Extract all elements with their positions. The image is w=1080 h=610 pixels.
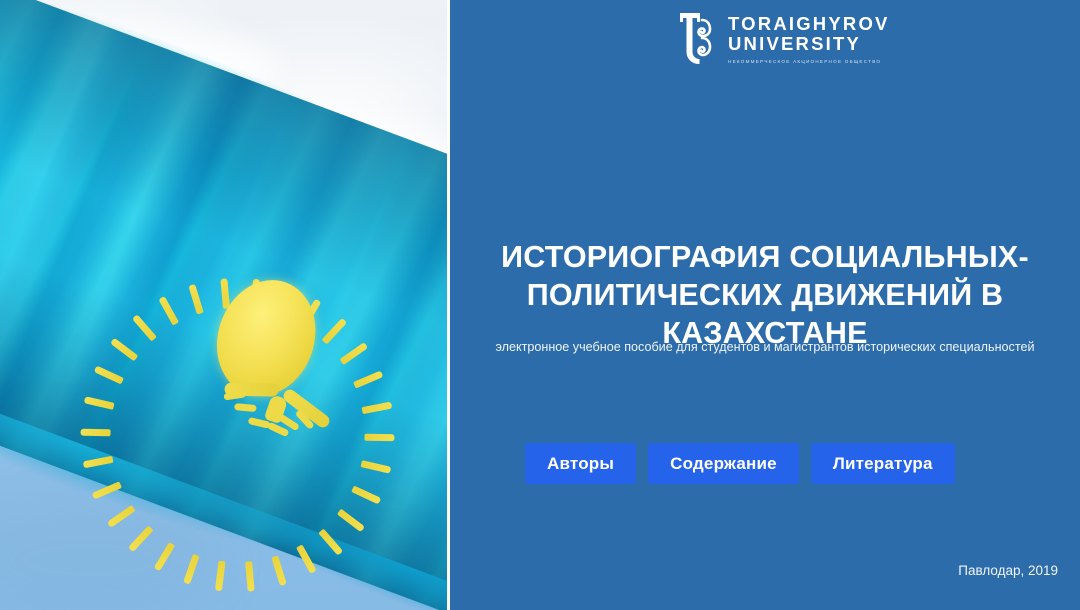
place-and-year: Павлодар, 2019 [958,563,1058,578]
authors-button[interactable]: Авторы [525,443,636,484]
logo-line-2: UNIVERSITY [728,34,890,54]
contents-button[interactable]: Содержание [648,443,799,484]
cover-page: TORAIGHYROV UNIVERSITY НЕКОММЕРЧЕСКОЕ АК… [0,0,1080,610]
logo-tagline: НЕКОММЕРЧЕСКОЕ АКЦИОНЕРНОЕ ОБЩЕСТВО [728,54,890,66]
content-panel: TORAIGHYROV UNIVERSITY НЕКОММЕРЧЕСКОЕ АК… [450,0,1080,610]
university-logo-text: TORAIGHYROV UNIVERSITY НЕКОММЕРЧЕСКОЕ АК… [728,10,890,66]
sun-ray-icon [364,434,394,442]
logo-line-1: TORAIGHYROV [728,14,890,34]
nav-button-group: Авторы Содержание Литература [525,443,955,484]
kazakhstan-flag-photo [0,0,447,610]
sun-ray-icon [188,284,203,315]
university-logo: TORAIGHYROV UNIVERSITY НЕКОММЕРЧЕСКОЕ АК… [678,10,890,71]
sun-ray-icon [321,318,347,345]
page-subtitle: электронное учебное пособие для студенто… [456,338,1074,356]
literature-button[interactable]: Литература [811,443,955,484]
sun-ray-icon [80,429,110,437]
toraighyrov-monogram-icon [678,10,712,71]
page-title: ИСТОРИОГРАФИЯ СОЦИАЛЬНЫХ-ПОЛИТИЧЕСКИХ ДВ… [460,238,1070,352]
sun-ray-icon [220,278,230,308]
